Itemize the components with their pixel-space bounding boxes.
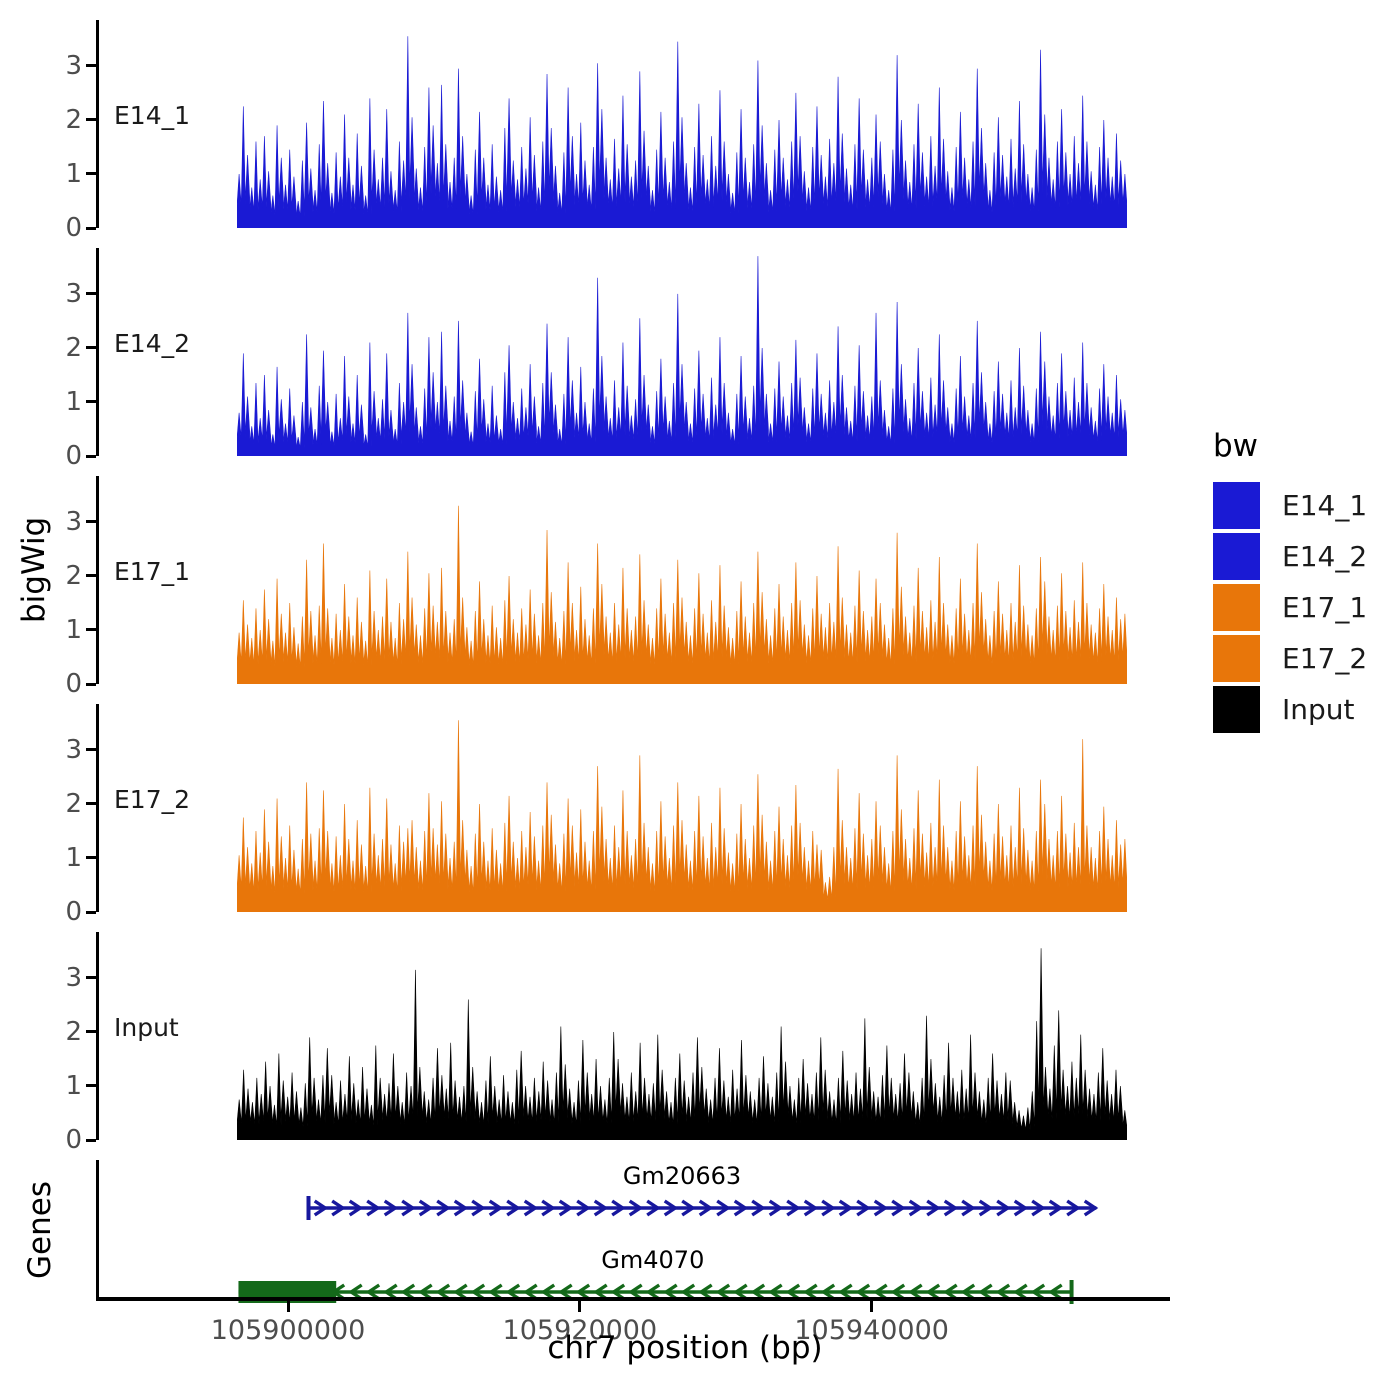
y-axis-tick-label: 1 — [65, 159, 82, 189]
y-axis-tick — [86, 400, 96, 403]
legend-item-e17_2[interactable]: E17_2 — [1213, 635, 1367, 682]
legend-swatch-e17_2 — [1213, 635, 1260, 682]
y-axis-tick-label: 1 — [65, 1071, 82, 1101]
legend-label-e14_2: E14_2 — [1282, 540, 1367, 573]
y-axis-title: bigWig — [14, 470, 54, 670]
x-axis-title: chr7 position (bp) — [200, 1330, 1170, 1366]
y-axis-tick-label: 3 — [65, 51, 82, 81]
facet-panel-input: 0123Input — [96, 932, 1170, 1140]
y-axis-tick — [86, 455, 96, 458]
facet-strip-label-e14_2: E14_2 — [114, 329, 190, 358]
facet-strip-label-e17_2: E17_2 — [114, 785, 190, 814]
y-axis-tick-label: 1 — [65, 843, 82, 873]
facet-strip-label-e14_1: E14_1 — [114, 101, 190, 130]
legend-item-input[interactable]: Input — [1213, 686, 1367, 733]
signal-track-e17_1 — [237, 476, 1127, 684]
y-axis-tick-label: 0 — [65, 441, 82, 471]
facet-axis-line — [96, 20, 99, 228]
y-axis-tick-label: 2 — [65, 105, 82, 135]
y-axis-tick-label: 3 — [65, 963, 82, 993]
genes-axis-title: Genes — [18, 1160, 62, 1300]
gene-label-gm20663: Gm20663 — [623, 1162, 741, 1190]
y-axis-tick — [86, 683, 96, 686]
facet-panel-e14_2: 0123E14_2 — [96, 248, 1170, 456]
facet-strip-label-input: Input — [114, 1013, 179, 1042]
y-axis-tick-label: 1 — [65, 615, 82, 645]
x-axis-tick — [287, 1301, 290, 1312]
y-axis-tick — [86, 911, 96, 914]
facet-axis-line — [96, 932, 99, 1140]
gene-track-gm20663[interactable]: Gm20663 — [96, 1188, 1170, 1228]
legend-label-e17_2: E17_2 — [1282, 642, 1367, 675]
legend-item-e14_1[interactable]: E14_1 — [1213, 482, 1367, 529]
y-axis-tick — [86, 292, 96, 295]
y-axis-tick-label: 3 — [65, 279, 82, 309]
y-axis-tick-label: 0 — [65, 213, 82, 243]
facet-panel-e14_1: 0123E14_1 — [96, 20, 1170, 228]
signal-track-e14_1 — [237, 20, 1127, 228]
legend-item-e14_2[interactable]: E14_2 — [1213, 533, 1367, 580]
y-axis-tick — [86, 802, 96, 805]
y-axis-tick — [86, 574, 96, 577]
legend-label-input: Input — [1282, 693, 1355, 726]
x-axis-line — [96, 1297, 1170, 1301]
legend-item-e17_1[interactable]: E17_1 — [1213, 584, 1367, 631]
facet-axis-line — [96, 476, 99, 684]
y-axis-tick-label: 3 — [65, 507, 82, 537]
y-axis-tick — [86, 1084, 96, 1087]
y-axis-tick-label: 3 — [65, 735, 82, 765]
y-axis-tick — [86, 976, 96, 979]
y-axis-tick-label: 2 — [65, 561, 82, 591]
y-axis-tick — [86, 1030, 96, 1033]
x-axis-tick — [578, 1301, 581, 1312]
gene-label-gm4070: Gm4070 — [601, 1246, 704, 1274]
signal-track-input — [237, 932, 1127, 1140]
facet-strip-label-e17_1: E17_1 — [114, 557, 190, 586]
y-axis-tick — [86, 118, 96, 121]
facet-panel-e17_2: 0123E17_2 — [96, 704, 1170, 912]
y-axis-tick-label: 0 — [65, 669, 82, 699]
legend-swatch-input — [1213, 686, 1260, 733]
facet-axis-line — [96, 704, 99, 912]
signal-track-e14_2 — [237, 248, 1127, 456]
legend-label-e14_1: E14_1 — [1282, 489, 1367, 522]
y-axis-tick — [86, 628, 96, 631]
y-axis-tick-label: 2 — [65, 333, 82, 363]
facet-panel-e17_1: 0123E17_1 — [96, 476, 1170, 684]
legend: bw E14_1E14_2E17_1E17_2Input — [1213, 428, 1367, 737]
x-axis-tick — [870, 1301, 873, 1312]
signal-track-e17_2 — [237, 704, 1127, 912]
legend-swatch-e17_1 — [1213, 584, 1260, 631]
y-axis-tick — [86, 172, 96, 175]
y-axis-tick — [86, 227, 96, 230]
y-axis-tick-label: 2 — [65, 789, 82, 819]
y-axis-tick-label: 0 — [65, 1125, 82, 1155]
y-axis-tick-label: 1 — [65, 387, 82, 417]
legend-label-e17_1: E17_1 — [1282, 591, 1367, 624]
legend-swatch-e14_2 — [1213, 533, 1260, 580]
y-axis-tick — [86, 856, 96, 859]
y-axis-tick — [86, 520, 96, 523]
legend-swatch-e14_1 — [1213, 482, 1260, 529]
facet-axis-line — [96, 248, 99, 456]
y-axis-tick-label: 0 — [65, 897, 82, 927]
legend-items: E14_1E14_2E17_1E17_2Input — [1213, 482, 1367, 733]
y-axis-tick-label: 2 — [65, 1017, 82, 1047]
y-axis-tick — [86, 748, 96, 751]
gene-track-gm4070[interactable]: Gm4070 — [96, 1272, 1170, 1312]
y-axis-tick — [86, 64, 96, 67]
genes-panel: Gm20663Gm4070 — [96, 1160, 1170, 1300]
y-axis-tick — [86, 346, 96, 349]
y-axis-tick — [86, 1139, 96, 1142]
legend-title: bw — [1213, 428, 1367, 464]
